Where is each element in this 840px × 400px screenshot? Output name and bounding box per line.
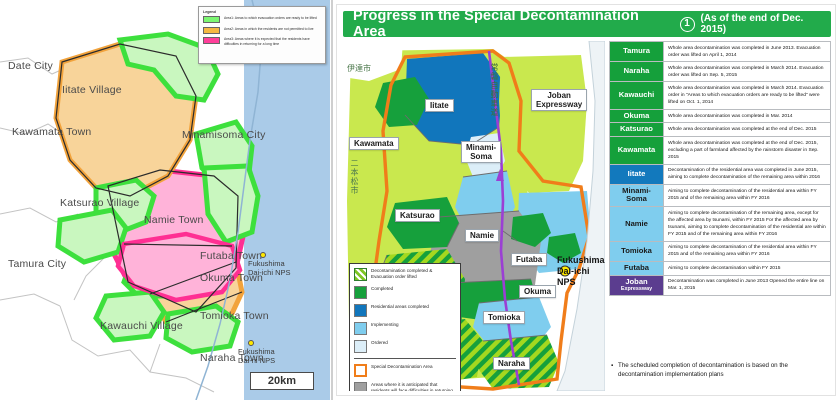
table-row: Katsurao Whole area decontamination was … xyxy=(610,123,831,137)
map-label-tomioka: Tomioka xyxy=(483,311,525,324)
municipality-kawauchi: Kawauchi xyxy=(610,82,664,109)
description-okuma: Whole area decontamination was completed… xyxy=(664,109,831,123)
legend-text-difficult-return: Areas where it is anticipated that resid… xyxy=(371,382,456,391)
municipality-naraha: Naraha xyxy=(610,62,664,82)
table-row: Iitate Decontamination of the residentia… xyxy=(610,164,831,184)
left-label-tamura-city: Tamura City xyxy=(8,258,66,270)
pale-blue-swatch xyxy=(354,340,367,353)
left-label-katsurao-village: Katsurao Village xyxy=(60,197,139,209)
description-joban-expressway: Decontamination was completed in June 20… xyxy=(664,275,831,295)
municipality-namie: Namie xyxy=(610,207,664,241)
map-label-joban-expressway: Joban Expressway xyxy=(531,89,587,111)
area1-zone-katsurao xyxy=(58,210,126,262)
map-label-okuma: Okuma xyxy=(519,285,556,298)
footnote-bullet: ▪ xyxy=(611,361,613,370)
joban-jidoshado-kanji-label: 常磐自動車道 xyxy=(489,63,500,117)
left-nps-dai-ichi-marker xyxy=(260,252,266,258)
description-tamura: Whole area decontamination was completed… xyxy=(664,42,831,62)
area3-swatch xyxy=(203,37,220,44)
left-label-namie-town: Namie Town xyxy=(144,214,204,226)
light-blue-swatch xyxy=(354,322,367,335)
map-label-katsurao: Katsurao xyxy=(395,209,440,222)
legend-text-special-area: Special Decontamination Area xyxy=(371,364,433,370)
left-label-kawauchi-village: Kawauchi Village xyxy=(100,320,183,332)
area1-swatch xyxy=(203,16,220,23)
legend-item-residential-completed: Residential areas completed xyxy=(354,304,456,317)
blue-swatch xyxy=(354,304,367,317)
sda-outline-swatch xyxy=(354,364,367,377)
left-label-iitate-village: Iitate Village xyxy=(62,84,122,96)
left-legend-title: Legend xyxy=(203,10,321,14)
map-label-kawamata: Kawamata xyxy=(349,137,399,150)
legend-item-implementing: Implementing xyxy=(354,322,456,335)
scale-bar: 20km xyxy=(250,372,314,390)
nps-dai-ni-line2: Dai-ni NPS xyxy=(238,356,275,365)
legend-item-completed-lifted: Decontamination completed & Evacuation o… xyxy=(354,268,456,281)
green-swatch xyxy=(354,286,367,299)
left-legend-item-area2: Area2: Areas in which the residents are … xyxy=(203,27,321,34)
map-label-namie: Namie xyxy=(465,229,499,242)
legend-text-completed: Completed xyxy=(371,286,393,292)
description-futaba: Aiming to complete decontamination withi… xyxy=(664,261,831,275)
table-row: Namie Aiming to complete decontamination… xyxy=(610,207,831,241)
footnote: ▪ The scheduled completion of decontamin… xyxy=(611,361,831,380)
table-row: Joban Expressway Decontamination was com… xyxy=(610,275,831,295)
legend-item-completed: Completed xyxy=(354,286,456,299)
left-legend-item-area1: Area1: Areas to which evacuation orders … xyxy=(203,16,321,23)
area1-zone-kawauchi xyxy=(96,292,164,340)
nps-dai-ichi-line2: Dai-ichi NPS xyxy=(248,268,291,277)
left-evacuation-map: Date City Iitate Village Kawamata Town M… xyxy=(0,0,330,400)
legend-text-ordered: Ordered xyxy=(371,340,388,346)
date-shi-kanji-label: 伊達市 xyxy=(347,63,371,74)
table-row: Okuma Whole area decontamination was com… xyxy=(610,109,831,123)
legend-divider xyxy=(354,358,456,359)
left-nps-dai-ni-marker xyxy=(248,340,254,346)
description-iitate: Decontamination of the residential area … xyxy=(664,164,831,184)
legend-item-difficult-return: Areas where it is anticipated that resid… xyxy=(354,382,456,391)
area3-legend-text: Area3: Areas where it is expected that t… xyxy=(224,37,321,46)
left-nps-dai-ichi-label: Fukushima Dai-ichi NPS xyxy=(248,260,291,277)
table-row: Kawauchi Whole area decontamination was … xyxy=(610,82,831,109)
municipality-katsurao: Katsurao xyxy=(610,123,664,137)
description-kawamata: Whole area decontamination was completed… xyxy=(664,137,831,164)
table-row: Futaba Aiming to complete decontaminatio… xyxy=(610,261,831,275)
area2-swatch xyxy=(203,27,220,34)
description-kawauchi: Whole area decontamination was completed… xyxy=(664,82,831,109)
left-label-minamisoma-city: Minamisoma City xyxy=(182,129,266,141)
table-row: Tomioka Aiming to complete decontaminati… xyxy=(610,241,831,261)
area1-legend-text: Area1: Areas to which evacuation orders … xyxy=(224,16,317,21)
area2-legend-text: Area2: Areas in which the residents are … xyxy=(224,27,314,32)
joban-main-label: Joban xyxy=(625,277,647,286)
table-row: Minami- Soma Aiming to complete decontam… xyxy=(610,184,831,206)
left-label-tomioka-town: Tomioka Town xyxy=(200,310,269,322)
municipality-joban-expressway: Joban Expressway xyxy=(610,275,664,295)
decontamination-progress-map: 伊達市 常磐自動車道 二本松市 Iitate Kawamata Minami- … xyxy=(343,41,605,391)
description-katsurao: Whole area decontamination was completed… xyxy=(664,123,831,137)
hatch-swatch xyxy=(354,268,367,281)
table-row: Kawamata Whole area decontamination was … xyxy=(610,137,831,164)
slide-header: Progress in the Special Decontamination … xyxy=(343,11,831,37)
map-label-naraha: Naraha xyxy=(493,357,530,370)
municipality-kawamata: Kawamata xyxy=(610,137,664,164)
page-title: Progress in the Special Decontamination … xyxy=(353,8,674,40)
legend-item-ordered: Ordered xyxy=(354,340,456,353)
municipality-iitate: Iitate xyxy=(610,164,664,184)
table-row: Tamura Whole area decontamination was co… xyxy=(610,42,831,62)
circled-number-badge: 1 xyxy=(680,17,695,32)
left-legend-item-area3: Area3: Areas where it is expected that t… xyxy=(203,37,321,46)
panel-divider xyxy=(331,0,333,400)
map-label-futaba: Futaba xyxy=(511,253,547,266)
map-label-iitate: Iitate xyxy=(425,99,454,112)
as-of-date: (As of the end of Dec. 2015) xyxy=(701,13,832,35)
municipality-okuma: Okuma xyxy=(610,109,664,123)
municipality-minami-soma: Minami- Soma xyxy=(610,184,664,206)
nihonmatsu-shi-kanji-label: 二本松市 xyxy=(349,159,360,195)
left-map-legend: Legend Area1: Areas to which evacuation … xyxy=(198,6,326,64)
progress-table: Tamura Whole area decontamination was co… xyxy=(609,41,831,296)
map-legend: Decontamination completed & Evacuation o… xyxy=(349,263,461,391)
joban-sub-label: Expressway xyxy=(611,286,662,292)
municipality-futaba: Futaba xyxy=(610,261,664,275)
legend-item-special-area: Special Decontamination Area xyxy=(354,364,456,377)
fukushima-dai-ichi-nps-label: Fukushima Dai-ichi NPS xyxy=(557,255,605,287)
left-nps-dai-ni-label: Fukushima Dai-ni NPS xyxy=(238,348,275,365)
municipality-tomioka: Tomioka xyxy=(610,241,664,261)
municipality-tamura: Tamura xyxy=(610,42,664,62)
grey-swatch xyxy=(354,382,367,391)
legend-text-implementing: Implementing xyxy=(371,322,399,328)
table-row: Naraha Whole area decontamination was co… xyxy=(610,62,831,82)
left-label-kawamata-town: Kawamata Town xyxy=(12,126,91,138)
description-namie: Aiming to complete decontamination of th… xyxy=(664,207,831,241)
description-minami-soma: Aiming to complete decontamination of th… xyxy=(664,184,831,206)
screenshot-root: Date City Iitate Village Kawamata Town M… xyxy=(0,0,840,400)
legend-text-residential-completed: Residential areas completed xyxy=(371,304,429,310)
legend-text-completed-lifted: Decontamination completed & Evacuation o… xyxy=(371,268,456,280)
left-label-date-city: Date City xyxy=(8,60,53,72)
description-naraha: Whole area decontamination was completed… xyxy=(664,62,831,82)
katsurao-completed xyxy=(387,197,459,249)
slide-panel: Progress in the Special Decontamination … xyxy=(336,4,836,396)
map-label-minami-soma: Minami- Soma xyxy=(461,141,501,163)
footnote-text: The scheduled completion of decontaminat… xyxy=(611,361,831,380)
description-tomioka: Aiming to complete decontamination of th… xyxy=(664,241,831,261)
